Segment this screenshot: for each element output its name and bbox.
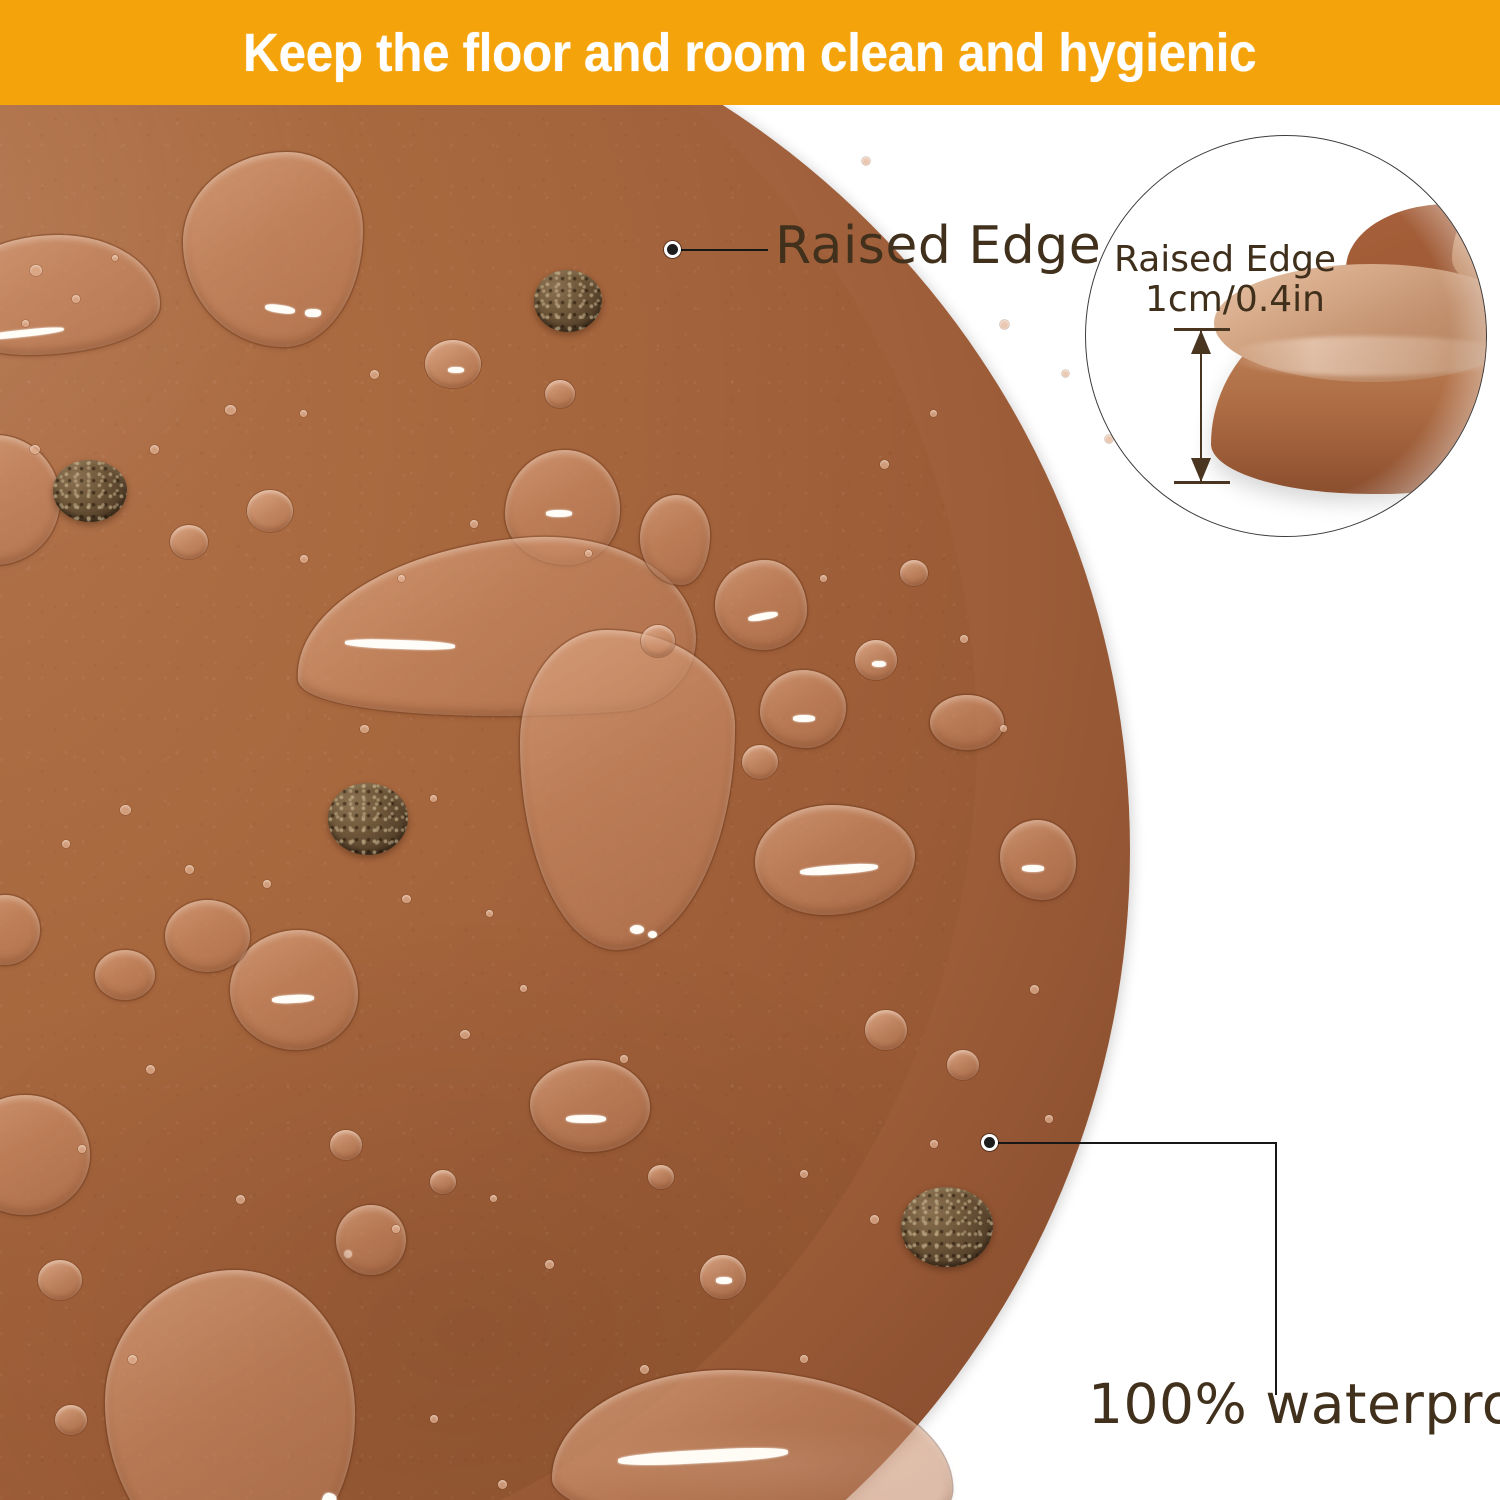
- water-mist-speck: [146, 1065, 155, 1074]
- dog-kibble-piece: [53, 460, 127, 522]
- raised-edge-label: Raised Edge: [775, 216, 1101, 276]
- raised-edge-callout-dot: [664, 241, 681, 258]
- water-mist-speck: [930, 1140, 938, 1148]
- water-droplet: [55, 1405, 87, 1435]
- water-puddle: [530, 1060, 650, 1152]
- water-mist-speck: [430, 1415, 438, 1423]
- water-mist-speck: [640, 1365, 649, 1374]
- dog-kibble-piece: [901, 1187, 993, 1267]
- inset-caption-line1: Raised Edge: [1110, 240, 1360, 280]
- water-specular-highlight: [793, 715, 815, 722]
- dog-kibble-piece: [534, 270, 602, 332]
- water-mist-speck: [78, 1145, 86, 1153]
- water-mist-speck: [263, 880, 271, 888]
- water-puddle: [930, 695, 1004, 750]
- water-mist-speck: [150, 445, 159, 454]
- inset-caption-line2: 1cm/0.4in: [1110, 280, 1360, 320]
- water-puddle: [165, 900, 250, 972]
- water-mist-speck: [225, 405, 236, 415]
- water-droplet: [425, 340, 481, 388]
- water-specular-highlight: [648, 931, 657, 938]
- water-mist-speck: [62, 840, 70, 848]
- header-banner: Keep the floor and room clean and hygien…: [0, 0, 1500, 105]
- water-mist-speck: [460, 1030, 470, 1039]
- water-droplet: [947, 1050, 979, 1080]
- water-mist-speck: [620, 1055, 628, 1063]
- water-mist-speck: [360, 725, 369, 733]
- water-mist-speck: [1000, 320, 1009, 329]
- water-mist-speck: [185, 865, 194, 874]
- water-mist-speck: [880, 460, 889, 469]
- water-droplet: [247, 490, 293, 532]
- dimension-arrowhead-up: [1191, 330, 1211, 354]
- water-mist-speck: [800, 1170, 808, 1178]
- water-specular-highlight: [872, 661, 886, 667]
- waterproof-label: 100% waterproof: [1088, 1372, 1500, 1436]
- water-mist-speck: [30, 265, 42, 276]
- water-mist-speck: [128, 1355, 137, 1364]
- water-specular-highlight: [716, 1277, 732, 1284]
- double-arrow-vertical-icon: [1174, 328, 1230, 484]
- banner-headline: Keep the floor and room clean and hygien…: [243, 22, 1256, 84]
- water-droplet: [742, 745, 778, 779]
- water-mist-speck: [22, 320, 29, 327]
- water-mist-speck: [236, 1195, 245, 1204]
- water-mist-speck: [398, 575, 405, 582]
- water-mist-speck: [1000, 725, 1007, 732]
- water-mist-speck: [470, 520, 478, 528]
- water-mist-speck: [392, 1225, 400, 1233]
- water-specular-highlight: [566, 1115, 606, 1123]
- water-droplet: [641, 625, 675, 657]
- water-mist-speck: [585, 550, 592, 557]
- water-mist-speck: [430, 795, 437, 802]
- water-droplet: [900, 560, 928, 586]
- water-specular-highlight: [1022, 865, 1044, 872]
- water-specular-highlight: [448, 367, 464, 373]
- water-mist-speck: [72, 295, 80, 303]
- water-mist-speck: [1045, 1115, 1053, 1123]
- water-mist-speck: [800, 1355, 808, 1363]
- water-mist-speck: [120, 805, 131, 815]
- rim-cross-section-photo: [1196, 186, 1487, 516]
- raised-edge-detail-inset: Raised Edge 1cm/0.4in: [1085, 135, 1487, 537]
- water-mist-speck: [1062, 370, 1069, 377]
- waterproof-leader-line-vertical: [1275, 1142, 1277, 1395]
- water-mist-speck: [870, 1215, 879, 1224]
- water-mist-speck: [498, 1480, 507, 1489]
- water-puddle: [760, 670, 846, 748]
- water-specular-highlight: [630, 925, 644, 934]
- water-droplet: [545, 380, 575, 408]
- water-puddle: [95, 950, 155, 1000]
- water-droplet: [648, 1165, 674, 1189]
- water-droplet: [430, 1170, 456, 1194]
- water-mist-speck: [370, 370, 379, 379]
- water-droplet: [38, 1260, 82, 1300]
- water-mist-speck: [300, 410, 307, 417]
- water-mist-speck: [1030, 985, 1039, 994]
- water-droplet: [170, 525, 208, 559]
- water-mist-speck: [862, 157, 870, 165]
- water-droplet: [855, 640, 897, 680]
- tray-bottom-sheen: [560, 1425, 980, 1500]
- water-mist-speck: [30, 445, 40, 454]
- water-mist-speck: [960, 635, 968, 643]
- water-mist-speck: [545, 1260, 554, 1269]
- water-mist-speck: [820, 575, 827, 582]
- water-puddle: [230, 930, 358, 1050]
- water-mist-speck: [520, 985, 527, 992]
- water-mist-speck: [300, 555, 308, 563]
- water-puddle: [336, 1205, 406, 1275]
- water-droplet: [865, 1010, 907, 1050]
- inset-caption: Raised Edge 1cm/0.4in: [1110, 240, 1360, 321]
- water-puddle: [715, 560, 807, 650]
- dimension-arrowhead-down: [1191, 458, 1211, 482]
- product-feature-image: Keep the floor and room clean and hygien…: [0, 0, 1500, 1500]
- water-mist-speck: [930, 410, 937, 417]
- water-specular-highlight: [305, 309, 321, 317]
- dog-kibble-piece: [328, 783, 408, 855]
- water-mist-speck: [490, 1195, 497, 1202]
- water-mist-speck: [486, 910, 493, 917]
- waterproof-callout-dot: [981, 1134, 998, 1151]
- water-mist-speck: [402, 895, 411, 903]
- water-droplet: [330, 1130, 362, 1160]
- water-mist-speck: [112, 255, 118, 261]
- raised-edge-leader-line: [680, 249, 768, 251]
- water-specular-highlight: [546, 510, 572, 517]
- waterproof-leader-line-horizontal: [996, 1142, 1276, 1144]
